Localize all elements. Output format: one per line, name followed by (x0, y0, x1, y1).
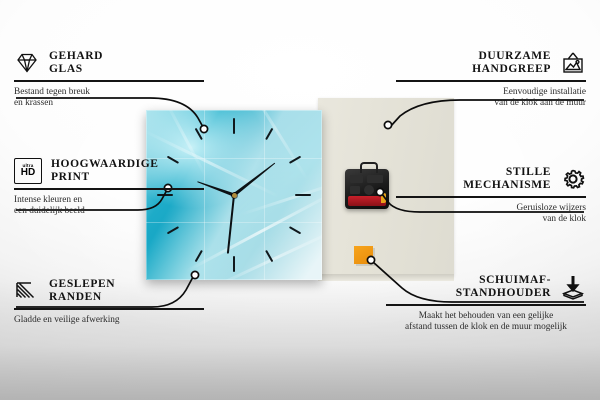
feature-desc-line2: van de klok aan de muur (494, 98, 586, 108)
feature-desc-line1: Eenvoudige installatie (503, 87, 586, 97)
feature-desc-line1: Intense kleuren en (14, 195, 82, 205)
feature-title-line1: DUURZAME (478, 50, 551, 62)
feature-title-line2: STANDHOUDER (456, 287, 551, 299)
feature-title-line1: STILLE (506, 166, 551, 178)
clock-mechanism (345, 169, 389, 209)
foam-spacer (354, 246, 373, 264)
feature-desc-line1: Maakt het behouden van een gelijke (419, 311, 554, 321)
feature-desc-line2: en krassen (14, 98, 53, 108)
feature-rule (14, 188, 204, 190)
feature-desc-line2: een duidelijk beeld (14, 206, 85, 216)
feature-rule (386, 304, 586, 306)
feature-rule (14, 308, 204, 310)
infographic-canvas: GEHARD GLAS Bestand tegen breuk en krass… (0, 0, 600, 400)
picture-frame-icon (560, 50, 586, 76)
clock-center-cap (232, 193, 237, 198)
battery (348, 196, 386, 206)
feature-title-line2: RANDEN (49, 291, 102, 303)
feature-desc-line1: Geruisloze wijzers (517, 203, 586, 213)
feature-title-line2: HANDGREEP (472, 63, 551, 75)
feature-desc-line2: afstand tussen de klok en de muur mogeli… (405, 322, 567, 332)
arrow-down-block-icon (560, 274, 586, 300)
feature-schuimaf-standhouder[interactable]: SCHUIMAF- STANDHOUDER Maakt het behouden… (386, 274, 586, 334)
feature-duurzame-handgreep[interactable]: DUURZAME HANDGREEP Eenvoudige installati… (396, 50, 586, 110)
ultra-hd-icon: ultra HD (14, 158, 42, 184)
feature-hoogwaardige-print[interactable]: ultra HD HOOGWAARDIGE PRINT Intense kleu… (14, 158, 204, 218)
feature-title-line1: GESLEPEN (49, 278, 115, 290)
diagonal-lines-icon (14, 278, 40, 304)
feature-rule (396, 80, 586, 82)
feature-title-line2: GLAS (49, 63, 83, 75)
feature-title-line2: PRINT (51, 171, 90, 183)
feature-geslepen-randen[interactable]: GESLEPEN RANDEN Gladde en veilige afwerk… (14, 278, 204, 326)
feature-desc-line1: Gladde en veilige afwerking (14, 315, 120, 325)
ultra-hd-icon-main: HD (21, 168, 35, 178)
feature-desc-line1: Bestand tegen breuk (14, 87, 90, 97)
diamond-icon (14, 50, 40, 76)
feature-rule (14, 80, 204, 82)
gear-icon (560, 166, 586, 192)
feature-title-line2: MECHANISME (463, 179, 551, 191)
mechanism-hanger-icon (360, 162, 378, 173)
feature-desc-line2: van de klok (543, 214, 586, 224)
feature-rule (396, 196, 586, 198)
feature-title-line1: HOOGWAARDIGE (51, 158, 159, 170)
feature-title-line1: SCHUIMAF- (479, 274, 551, 286)
feature-title-line1: GEHARD (49, 50, 103, 62)
feature-stille-mechanisme[interactable]: STILLE MECHANISME Geruisloze wijzers van… (396, 166, 586, 226)
feature-gehard-glas[interactable]: GEHARD GLAS Bestand tegen breuk en krass… (14, 50, 204, 110)
